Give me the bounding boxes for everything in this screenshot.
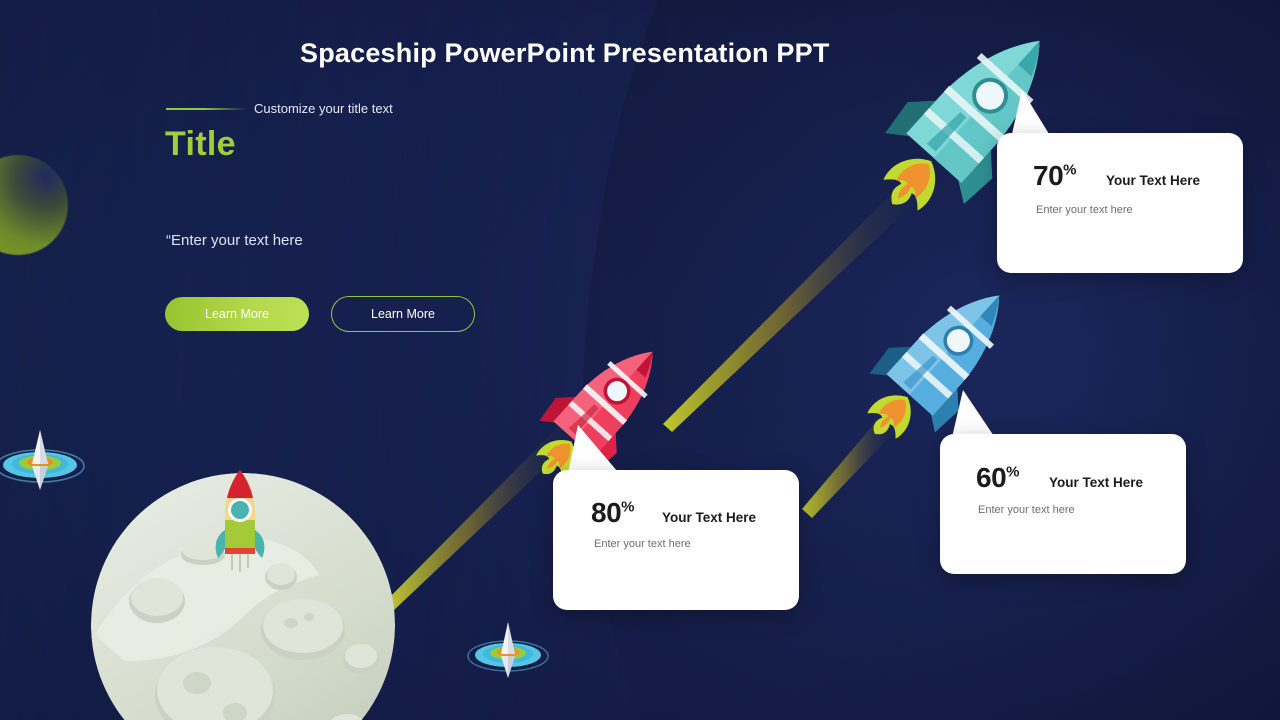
stat-card-subtext: Enter your text here	[978, 504, 1075, 516]
spinning-top-icon-left	[0, 420, 98, 502]
section-heading: Title	[165, 125, 236, 164]
page-title: Spaceship PowerPoint Presentation PPT	[300, 38, 940, 69]
stat-card-heading: Your Text Here	[1106, 173, 1200, 188]
accent-line	[166, 108, 246, 110]
stat-card-heading: Your Text Here	[1049, 475, 1143, 490]
stat-card-70[interactable]: 70% Your Text Here Enter your text here	[997, 133, 1243, 273]
stat-card-80[interactable]: 80% Your Text Here Enter your text here	[553, 470, 799, 610]
stat-card-heading: Your Text Here	[662, 510, 756, 525]
percent-symbol: %	[1063, 162, 1076, 179]
learn-more-button-secondary[interactable]: Learn More	[331, 296, 475, 332]
stat-card-subtext: Enter your text here	[1036, 204, 1133, 216]
stat-card-subtext: Enter your text here	[594, 538, 691, 550]
percent-symbol: %	[621, 499, 634, 516]
stat-percent-value: 60%	[976, 462, 1019, 494]
body-text: “Enter your text here	[166, 232, 303, 249]
spinning-top-icon-center	[464, 614, 552, 690]
learn-more-button-primary[interactable]: Learn More	[165, 297, 309, 331]
subtitle-text: Customize your title text	[254, 101, 393, 116]
stat-percent-value: 80%	[591, 497, 634, 529]
stat-card-60[interactable]: 60% Your Text Here Enter your text here	[940, 434, 1186, 574]
presentation-slide: 70% Your Text Here Enter your text here …	[0, 0, 1280, 720]
stat-percent-value: 70%	[1033, 160, 1076, 192]
percent-symbol: %	[1006, 464, 1019, 481]
button-row: Learn More Learn More	[165, 296, 475, 332]
moon-rocket-icon	[205, 462, 275, 572]
